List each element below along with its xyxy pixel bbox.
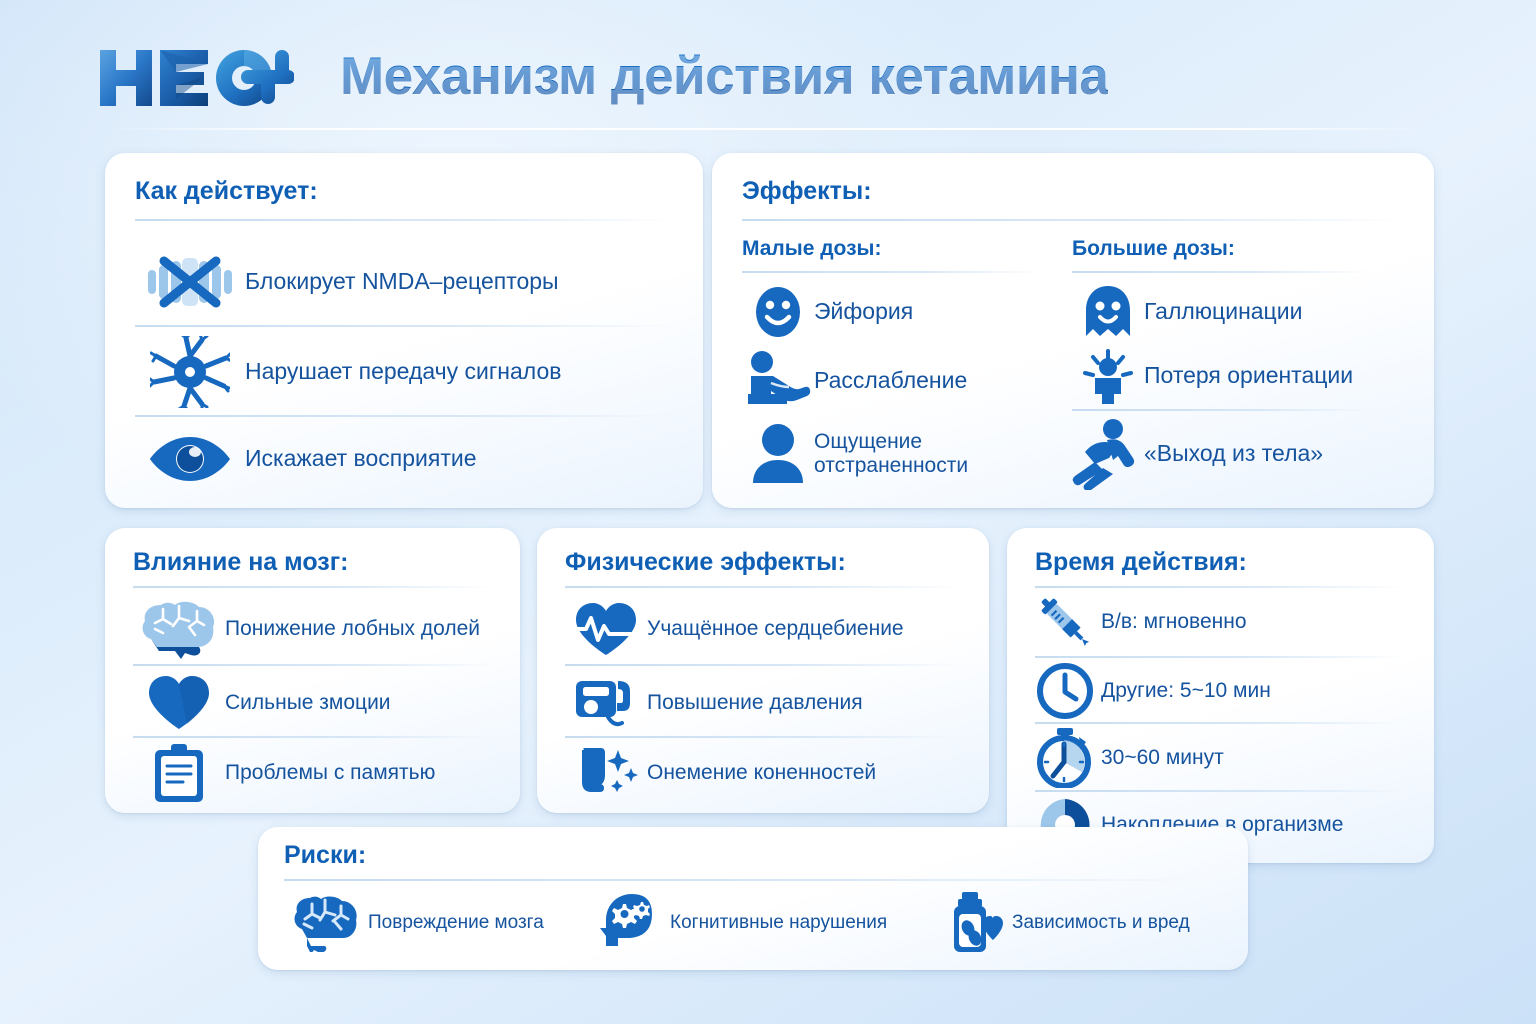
smiley-icon [742, 286, 814, 338]
list-item[interactable]: Сильные змоции [133, 670, 505, 736]
list-item[interactable]: В/в: мгновенно [1029, 590, 1424, 654]
card-how-it-works: Как действует: Блокирует NMDA–рецепторы [105, 153, 703, 508]
person-silhouette-icon [742, 423, 814, 485]
item-divider [135, 325, 673, 327]
list-item[interactable]: Онемение коненностей [565, 740, 975, 806]
subtitle-low-dose: Малые дозы: [742, 237, 881, 261]
item-divider [565, 736, 960, 738]
list-item-label: Ощущение отстраненности [814, 430, 968, 477]
item-divider [1035, 722, 1405, 724]
list-item-label: Эйфория [814, 299, 913, 325]
pill-bottle-icon [938, 892, 1012, 954]
list-item[interactable]: Проблемы с памятью [133, 740, 505, 806]
list-item[interactable]: Потеря ориентации [1072, 345, 1402, 407]
title-divider [135, 219, 673, 221]
list-item[interactable]: Повреждение мозга [282, 885, 602, 961]
card-title-duration: Время действия: [1035, 548, 1247, 577]
card-title-risks: Риски: [284, 841, 366, 870]
list-item[interactable]: Искажает восприятие [135, 421, 675, 497]
list-item-label: В/в: мгновенно [1101, 610, 1247, 634]
eye-icon [135, 433, 245, 485]
list-item[interactable]: «Выход из тела» [1067, 417, 1402, 491]
card-duration: Время действия: В/в: мгновенно [1007, 528, 1434, 863]
subtitle-divider [1072, 271, 1372, 273]
list-item-label: 30~60 минут [1101, 746, 1224, 770]
floating-person-icon [1067, 418, 1144, 490]
item-divider [133, 736, 493, 738]
ghost-icon [1072, 284, 1144, 340]
card-physical-effects: Физические эффекты: Учащённое сердцебиен… [537, 528, 989, 813]
confused-person-icon [1072, 347, 1144, 405]
title-divider [565, 586, 960, 588]
list-item[interactable]: 30~60 минут [1029, 726, 1424, 790]
list-item-label: Онемение коненностей [647, 761, 876, 785]
list-item-label: Учащённое сердцебиение [647, 617, 904, 641]
list-item[interactable]: Расслабление [742, 345, 1052, 417]
list-item-label: Проблемы с памятью [225, 761, 435, 785]
card-title-brain-impact: Влияние на мозг: [133, 548, 348, 577]
list-item[interactable]: Другие: 5~10 мин [1029, 660, 1424, 722]
page-title: Механизм действия кетамина [340, 46, 1108, 107]
list-item-label: Повреждение мозга [368, 912, 544, 933]
list-item[interactable]: Учащённое сердцебиение [565, 594, 975, 664]
list-item-label: Расслабление [814, 368, 967, 394]
card-risks: Риски: Повреждение мозга [258, 827, 1248, 970]
card-title-physical-effects: Физические эффекты: [565, 548, 846, 577]
list-item-label: Нарушает передачу сигналов [245, 359, 561, 385]
clock-icon [1029, 663, 1101, 719]
page-header: Механизм действия кетамина [0, 0, 1536, 140]
syringe-icon [1029, 591, 1101, 653]
card-effects: Эффекты: Малые дозы: Эйфория Рассл [712, 153, 1434, 508]
clipboard-icon [133, 742, 225, 804]
title-divider [1035, 586, 1405, 588]
list-item[interactable]: Галлюцинации [1072, 281, 1402, 343]
list-item[interactable]: Эйфория [742, 281, 1052, 343]
list-item-label: Сильные змоции [225, 691, 391, 715]
list-item-label: Повышение давления [647, 691, 863, 715]
title-divider [742, 219, 1404, 221]
list-item-label: Галлюцинации [1144, 299, 1302, 325]
neo-plus-logo [94, 42, 294, 114]
list-item[interactable]: Зависимость и вред [938, 885, 1238, 961]
list-item-label: Зависимость и вред [1012, 912, 1190, 933]
list-item[interactable]: Понижение лобных долей [133, 594, 505, 664]
blood-pressure-monitor-icon [565, 673, 647, 733]
heartbeat-icon [565, 600, 647, 658]
list-item[interactable]: Когнитивные нарушения [588, 885, 938, 961]
heart-icon [133, 674, 225, 732]
list-item[interactable]: Блокирует NMDA–рецепторы [135, 241, 675, 323]
card-title-effects: Эффекты: [742, 177, 872, 206]
subtitle-high-dose: Большие дозы: [1072, 237, 1235, 261]
item-divider [1035, 790, 1405, 792]
numb-foot-icon [565, 744, 647, 802]
item-divider [565, 664, 960, 666]
list-item-label: Блокирует NMDA–рецепторы [245, 269, 559, 295]
blocked-receptor-icon [135, 252, 245, 312]
card-brain-impact: Влияние на мозг: Понижение лобных долей … [105, 528, 520, 813]
neuron-icon [135, 336, 245, 408]
list-item-label: Потеря ориентации [1144, 363, 1353, 389]
list-item[interactable]: Нарушает передачу сигналов [135, 331, 675, 413]
stopwatch-icon [1029, 728, 1101, 788]
head-gears-icon [588, 892, 670, 954]
item-divider [135, 415, 673, 417]
list-item[interactable]: Ощущение отстраненности [742, 417, 1062, 491]
relaxing-person-icon [742, 350, 814, 412]
brain-icon [133, 599, 225, 659]
card-title-how-it-works: Как действует: [135, 177, 318, 206]
item-divider [1035, 656, 1405, 658]
item-divider [1072, 409, 1372, 411]
header-divider [110, 128, 1430, 130]
list-item[interactable]: Повышение давления [565, 670, 975, 736]
title-divider [284, 879, 1214, 881]
list-item-label: Понижение лобных долей [225, 617, 480, 641]
title-divider [133, 586, 493, 588]
subtitle-divider [742, 271, 1042, 273]
list-item-label: Когнитивные нарушения [670, 912, 887, 933]
list-item-label: Искажает восприятие [245, 446, 477, 472]
list-item-label: «Выход из тела» [1144, 441, 1323, 467]
list-item-label: Другие: 5~10 мин [1101, 679, 1271, 703]
damaged-brain-icon [282, 894, 368, 952]
item-divider [133, 664, 493, 666]
